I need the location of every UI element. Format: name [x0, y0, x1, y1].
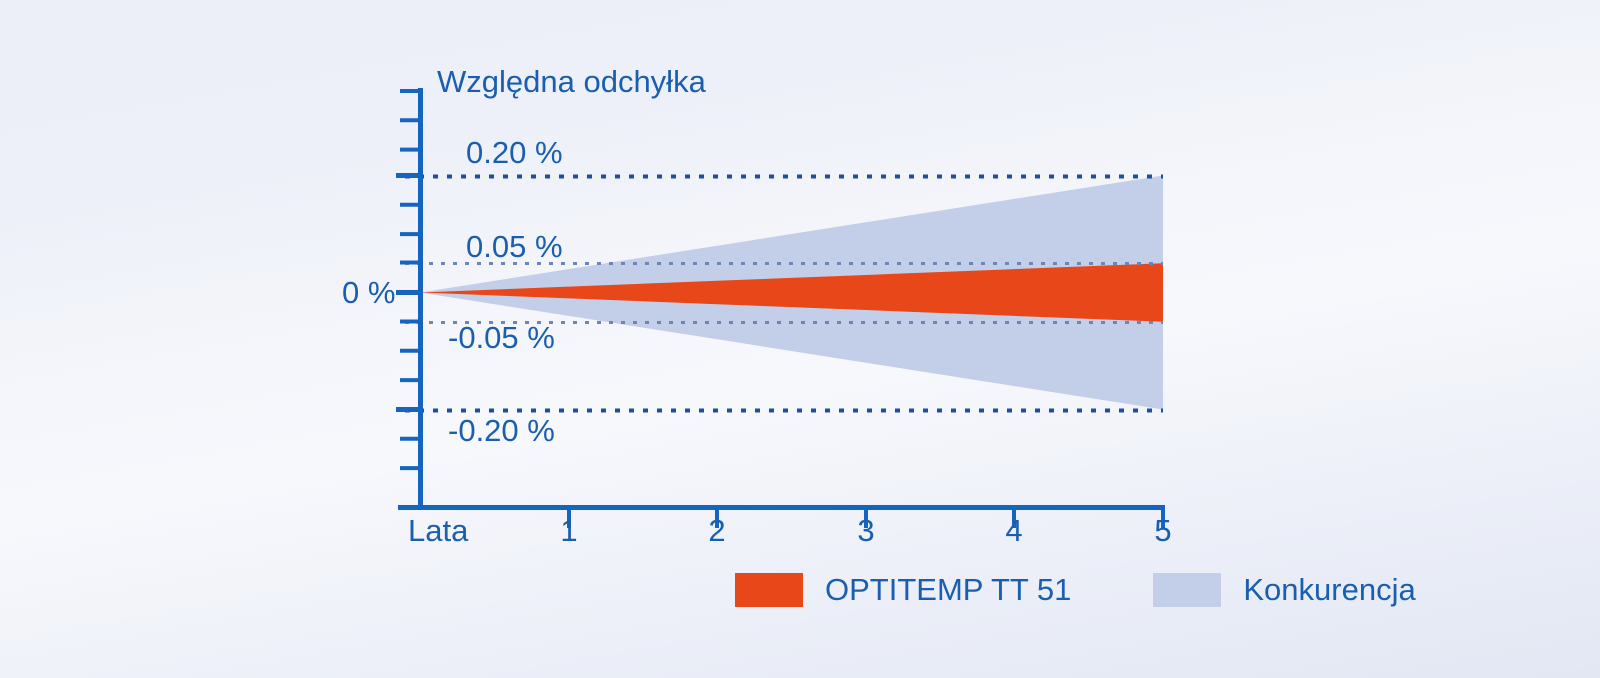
y-axis-title: Względna odchyłka [437, 66, 706, 97]
x-axis-label-origin: Lata [408, 515, 468, 546]
chart-container: Względna odchyłka 0.20 % 0.05 % 0 % -0.0… [0, 0, 1600, 678]
x-tick-label-1: 1 [554, 515, 584, 546]
x-tick-label-5: 5 [1148, 515, 1178, 546]
legend-item-optitemp: OPTITEMP TT 51 [735, 572, 1071, 608]
y-tick-label-plus-020: 0.20 % [466, 137, 563, 168]
legend-item-konkurencja: Konkurencja [1153, 572, 1415, 608]
x-tick-label-3: 3 [851, 515, 881, 546]
legend-swatch-konkurencja [1153, 573, 1221, 607]
legend-label-konkurencja: Konkurencja [1243, 572, 1415, 608]
legend-swatch-optitemp [735, 573, 803, 607]
x-tick-label-4: 4 [999, 515, 1029, 546]
y-axis-ticks [396, 91, 420, 468]
chart-legend: OPTITEMP TT 51 Konkurencja [735, 572, 1416, 608]
y-tick-label-zero: 0 % [342, 277, 395, 308]
y-tick-label-plus-005: 0.05 % [466, 231, 563, 262]
x-tick-label-2: 2 [702, 515, 732, 546]
y-tick-label-minus-005: -0.05 % [448, 322, 555, 353]
legend-label-optitemp: OPTITEMP TT 51 [825, 572, 1071, 608]
y-tick-label-minus-020: -0.20 % [448, 415, 555, 446]
